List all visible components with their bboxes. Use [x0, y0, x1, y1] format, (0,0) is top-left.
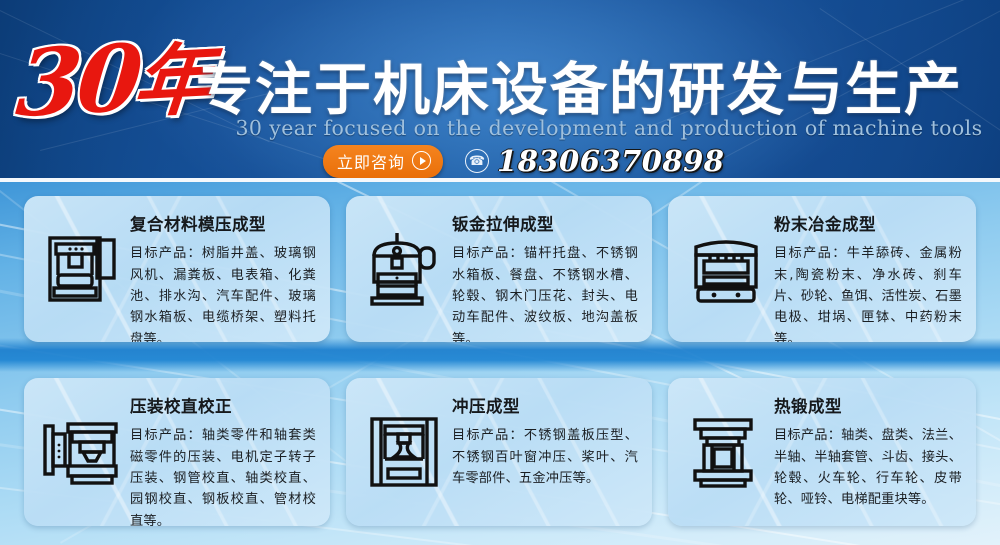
sheet-metal-drawing-machine-icon — [366, 230, 442, 308]
main-title: 专注于机床设备的研发与生产 — [196, 44, 963, 126]
card-title: 粉末冶金成型 — [774, 216, 962, 234]
hot-forging-press-machine-icon — [690, 414, 762, 490]
card-description: 目标产品：轴类、盘类、法兰、半轴、半轴套管、斗齿、接头、轮毂、火车轮、行车轮、皮… — [774, 425, 962, 511]
card-hot-forging[interactable]: 热锻成型 目标产品：轴类、盘类、法兰、半轴、半轴套管、斗齿、接头、轮毂、火车轮、… — [668, 378, 976, 526]
card-stamping[interactable]: 冲压成型 目标产品：不锈钢盖板压型、不锈钢百叶窗冲压、桨叶、汽车零部件、五金冲压… — [346, 378, 652, 526]
card-description: 目标产品：不锈钢盖板压型、不锈钢百叶窗冲压、桨叶、汽车零部件、五金冲压等。 — [452, 425, 638, 489]
card-sheet-metal[interactable]: 钣金拉伸成型 目标产品：锚杆托盘、不锈钢水箱板、餐盘、不锈钢水槽、轮毂、钢木门压… — [346, 196, 652, 342]
card-icon-wrap — [356, 388, 452, 516]
card-powder-metallurgy[interactable]: 粉末冶金成型 目标产品：牛羊舔砖、金属粉末,陶瓷粉末、净水砖、刹车片、砂轮、鱼饵… — [668, 196, 976, 342]
card-press-straightening[interactable]: 压装校直校正 目标产品：轴类零件和轴套类磁零件的压装、电机定子转子压装、钢管校直… — [24, 378, 330, 526]
years-number: 30 — [13, 24, 143, 138]
card-icon-wrap — [678, 388, 774, 516]
banner-header: 30年 专注于机床设备的研发与生产 30 year focused on the… — [0, 0, 1000, 182]
card-description: 目标产品：轴类零件和轴套类磁零件的压装、电机定子转子压装、钢管校直、轴类校直、园… — [130, 425, 316, 526]
powder-metallurgy-machine-icon — [688, 231, 764, 307]
phone-number: 18306370898 — [497, 144, 724, 178]
card-icon-wrap — [34, 206, 130, 332]
promo-banner: 30年 专注于机床设备的研发与生产 30 year focused on the… — [0, 0, 1000, 545]
card-description: 目标产品：锚杆托盘、不锈钢水箱板、餐盘、不锈钢水槽、轮毂、钢木门压花、封头、电动… — [452, 243, 638, 342]
press-straightening-machine-icon — [42, 414, 122, 490]
molding-press-machine-icon — [45, 230, 119, 308]
years-badge: 30年 — [13, 17, 214, 139]
card-title: 冲压成型 — [452, 398, 638, 416]
cta-row: 立即咨询 ☎ 18306370898 — [323, 144, 724, 178]
card-icon-wrap — [678, 206, 774, 332]
card-description: 目标产品：牛羊舔砖、金属粉末,陶瓷粉末、净水砖、刹车片、砂轮、鱼饵、活性炭、石墨… — [774, 243, 962, 342]
card-description: 目标产品：树脂井盖、玻璃钢风机、漏粪板、电表箱、化粪池、排水沟、汽车配件、玻璃钢… — [130, 243, 316, 342]
card-title: 复合材料模压成型 — [130, 216, 316, 234]
stamping-press-machine-icon — [368, 414, 440, 490]
consult-now-label: 立即咨询 — [337, 149, 405, 173]
card-title: 压装校直校正 — [130, 398, 316, 416]
cards-grid: 复合材料模压成型 目标产品：树脂井盖、玻璃钢风机、漏粪板、电表箱、化粪池、排水沟… — [0, 182, 1000, 545]
play-circle-icon — [412, 151, 431, 170]
sub-title: 30 year focused on the development and p… — [224, 116, 994, 140]
card-icon-wrap — [356, 206, 452, 332]
card-icon-wrap — [34, 388, 130, 516]
card-title: 热锻成型 — [774, 398, 962, 416]
phone-icon: ☎ — [465, 149, 489, 173]
consult-now-button[interactable]: 立即咨询 — [323, 145, 443, 178]
phone-block[interactable]: ☎ 18306370898 — [465, 144, 724, 178]
card-title: 钣金拉伸成型 — [452, 216, 638, 234]
cards-section: 复合材料模压成型 目标产品：树脂井盖、玻璃钢风机、漏粪板、电表箱、化粪池、排水沟… — [0, 182, 1000, 545]
card-molding[interactable]: 复合材料模压成型 目标产品：树脂井盖、玻璃钢风机、漏粪板、电表箱、化粪池、排水沟… — [24, 196, 330, 342]
